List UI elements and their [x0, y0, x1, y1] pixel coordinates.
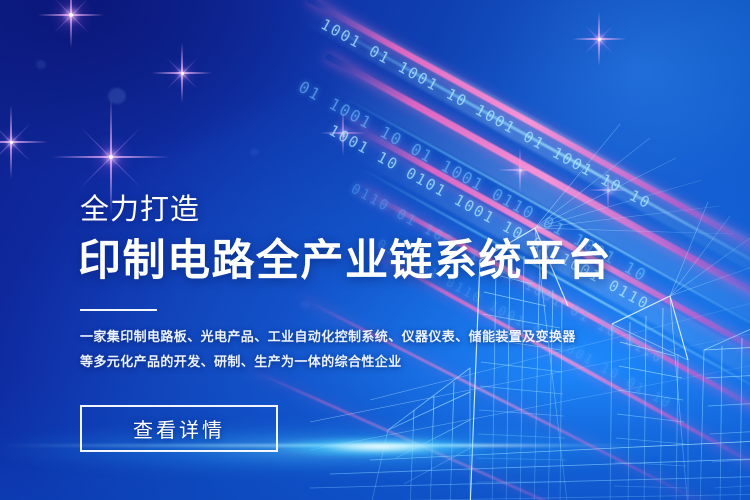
hero-banner: 1001 01 1001 10 1001 01 1001 10 10 01 10… — [0, 0, 750, 500]
title-divider — [80, 309, 157, 311]
view-details-button[interactable]: 查看详情 — [80, 405, 278, 452]
subtitle-line-1: 一家集印制电路板、光电产品、工业自动化控制系统、仪器仪表、储能装置及变换器 — [80, 324, 576, 349]
banner-kicker: 全力打造 — [80, 196, 200, 225]
banner-content: 全力打造 印制电路全产业链系统平台 一家集印制电路板、光电产品、工业自动化控制系… — [80, 0, 680, 500]
banner-headline: 印制电路全产业链系统平台 — [78, 238, 612, 284]
subtitle-line-2: 等多元化产品的开发、研制、生产为一体的综合性企业 — [80, 349, 576, 374]
banner-subtitle: 一家集印制电路板、光电产品、工业自动化控制系统、仪器仪表、储能装置及变换器 等多… — [80, 324, 576, 374]
